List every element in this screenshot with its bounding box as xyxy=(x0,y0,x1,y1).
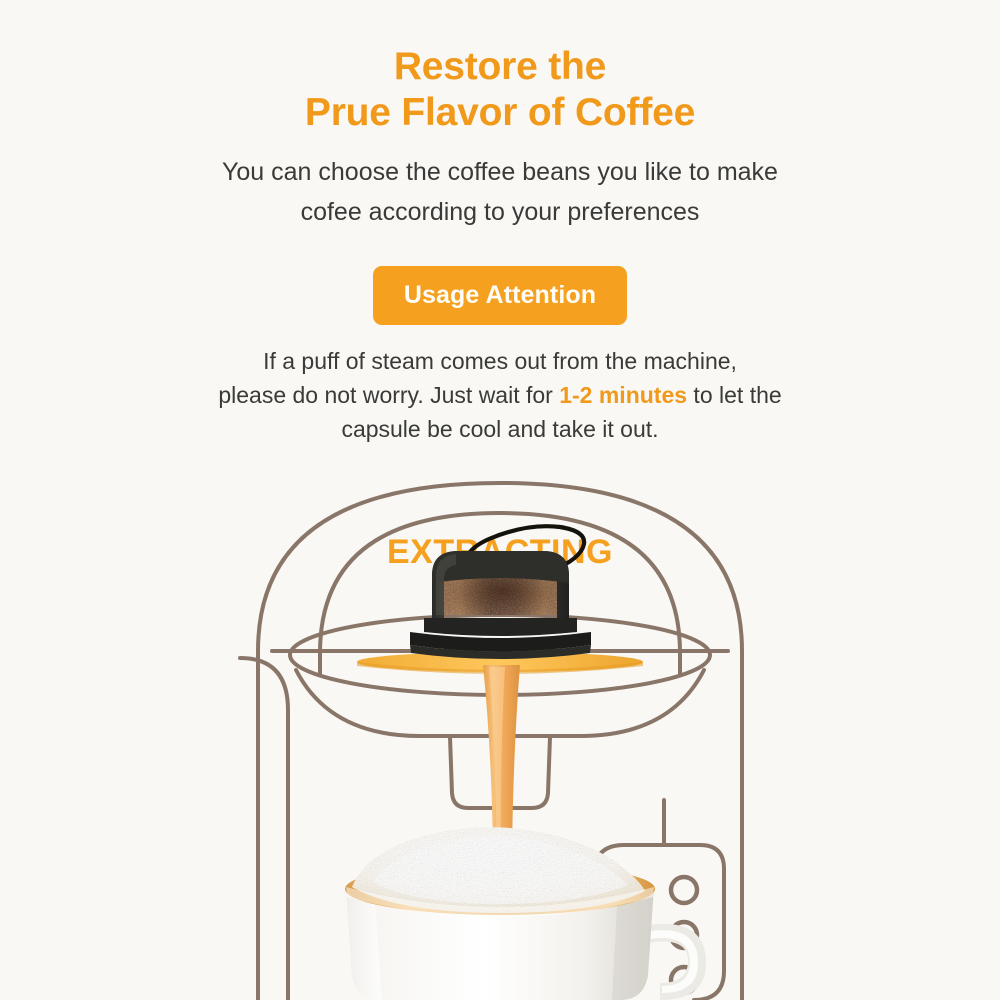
notice-line-3: capsule be cool and take it out. xyxy=(150,412,850,446)
notice-line-2-pre: please do not worry. Just wait for xyxy=(218,382,559,408)
coffee-capsule-icon xyxy=(410,550,591,659)
headline-line-1: Restore the xyxy=(0,44,1000,90)
cta-container: Usage Attention xyxy=(0,266,1000,325)
coffee-cup-icon xyxy=(345,827,706,1000)
coffee-machine-illustration: EXTRACTING xyxy=(0,455,1000,1000)
subheading-line-1: You can choose the coffee beans you like… xyxy=(150,152,850,192)
page-title: Restore the Prue Flavor of Coffee xyxy=(0,44,1000,136)
notice-highlight-duration: 1-2 minutes xyxy=(559,382,687,408)
notice-line-1: If a puff of steam comes out from the ma… xyxy=(150,344,850,378)
subheading-line-2: cofee according to your preferences xyxy=(150,192,850,232)
usage-attention-button[interactable]: Usage Attention xyxy=(373,266,627,325)
notice-line-2-post: to let the xyxy=(687,382,782,408)
usage-notice-text: If a puff of steam comes out from the ma… xyxy=(150,344,850,446)
promo-page: Restore the Prue Flavor of Coffee You ca… xyxy=(0,0,1000,1000)
notice-line-2: please do not worry. Just wait for 1-2 m… xyxy=(150,378,850,412)
headline-line-2: Prue Flavor of Coffee xyxy=(0,90,1000,136)
subheading-text: You can choose the coffee beans you like… xyxy=(150,152,850,232)
